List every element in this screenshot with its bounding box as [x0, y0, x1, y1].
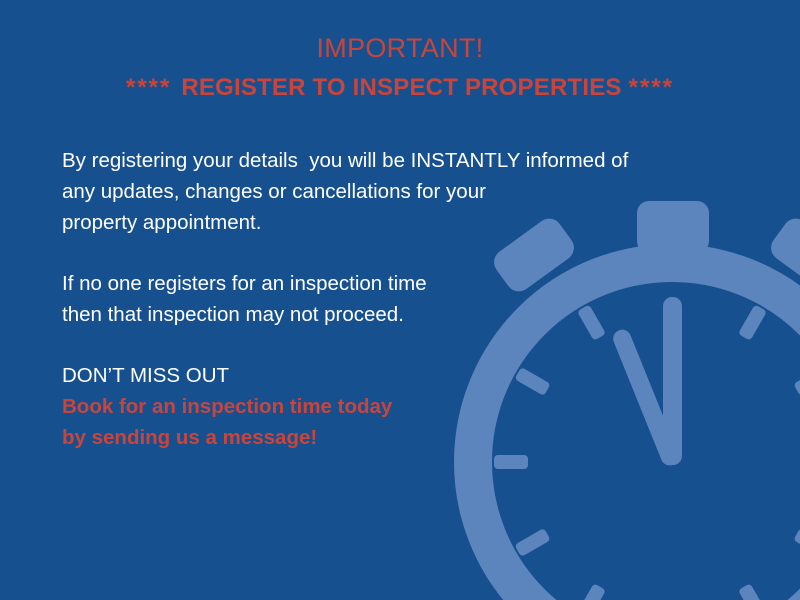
body-line: By registering your details you will be …	[62, 145, 722, 176]
cta-send-message: by sending us a message!	[62, 422, 722, 453]
cta-book-inspection: Book for an inspection time today	[62, 391, 722, 422]
paragraph-no-registration-warning: If no one registers for an inspection ti…	[62, 268, 722, 330]
paragraph-call-to-action: DON’T MISS OUT Book for an inspection ti…	[62, 360, 722, 453]
body-line: then that inspection may not proceed.	[62, 299, 722, 330]
page-subtitle: ****REGISTER TO INSPECT PROPERTIES****	[0, 70, 800, 106]
heading-block: IMPORTANT! ****REGISTER TO INSPECT PROPE…	[0, 30, 800, 106]
clock-right-lug	[766, 213, 800, 296]
slide-canvas: IMPORTANT! ****REGISTER TO INSPECT PROPE…	[0, 0, 800, 600]
body-line: If no one registers for an inspection ti…	[62, 268, 722, 299]
paragraph-registering-details: By registering your details you will be …	[62, 145, 722, 238]
subtitle-trailing-stars: ****	[629, 74, 674, 101]
body-line: any updates, changes or cancellations fo…	[62, 176, 722, 207]
body-line: property appointment.	[62, 207, 722, 238]
page-title: IMPORTANT!	[0, 30, 800, 66]
subtitle-text: REGISTER TO INSPECT PROPERTIES	[181, 74, 621, 101]
body-copy: By registering your details you will be …	[62, 145, 722, 453]
cta-dont-miss-out: DON’T MISS OUT	[62, 360, 722, 391]
subtitle-leading-stars: ****	[126, 74, 171, 101]
